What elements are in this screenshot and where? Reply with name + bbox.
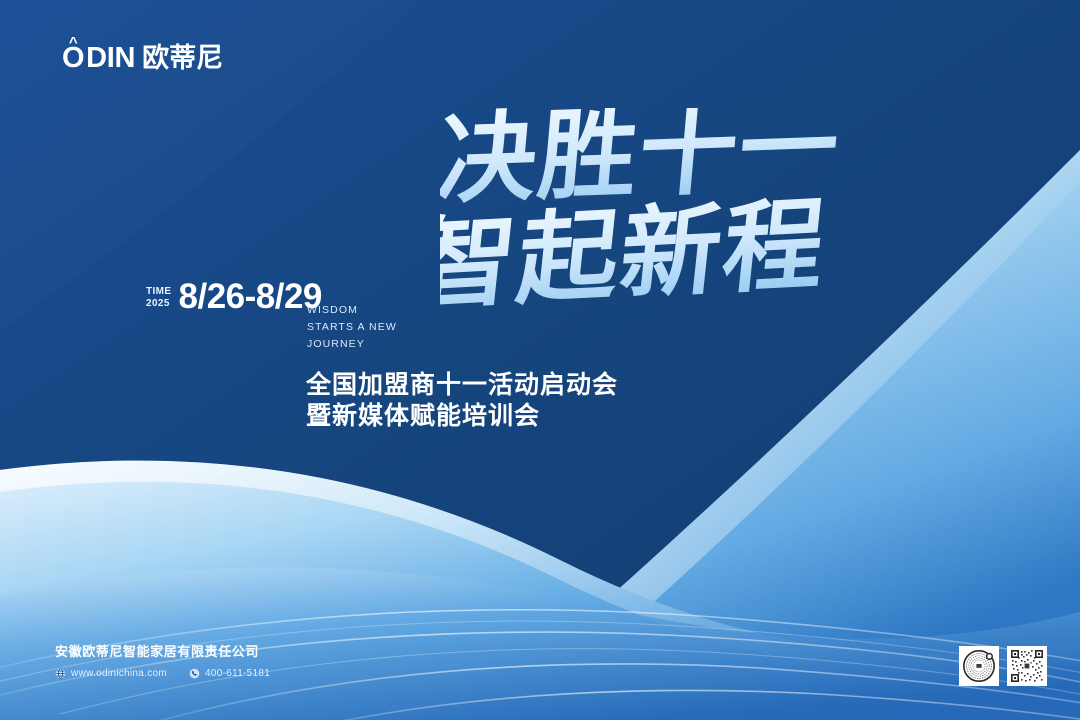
hero-line-2: 智起新程 [440,186,832,323]
phone-icon [189,668,200,679]
contact-row: www.odinichina.com 400-611-5181 [55,668,270,679]
circumflex-accent-icon: ^ [69,35,77,50]
square-qr-icon [1009,648,1045,684]
tagline-line-1: WISDOM [307,302,397,319]
globe-icon [55,668,66,679]
subtitle-line-2: 暨新媒体赋能培训会 [306,400,618,431]
subtitle-line-1: 全国加盟商十一活动启动会 [306,369,618,400]
circular-qr-icon [961,648,997,684]
footer-block: 安徽欧蒂尼智能家居有限责任公司 www.odinichina.com 400-6… [55,646,270,679]
time-label-word: TIME [146,286,172,298]
brand-logo: ^ O DIN 欧蒂尼 [62,44,223,73]
event-date-block: TIME 2025 8/26-8/29 [146,279,322,314]
website-contact[interactable]: www.odinichina.com [55,668,167,679]
qr-code-group [959,646,1047,686]
logo-latin-text: DIN [86,44,135,73]
time-label-year: 2025 [146,298,172,310]
english-tagline: WISDOM STARTS A NEW JOURNEY [307,302,397,353]
logo-chinese-text: 欧蒂尼 [142,45,223,72]
tagline-line-2: STARTS A NEW [307,319,397,336]
hero-title: 决胜十一 智起新程 [440,108,910,348]
wechat-mini-program-qr[interactable] [1007,646,1047,686]
phone-text: 400-611-5181 [205,669,270,679]
event-date-range: 8/26-8/29 [179,279,322,314]
event-subtitle: 全国加盟商十一活动启动会 暨新媒体赋能培训会 [306,369,618,431]
company-name: 安徽欧蒂尼智能家居有限责任公司 [55,646,270,659]
wechat-official-account-qr[interactable] [959,646,999,686]
website-text: www.odinichina.com [71,669,167,679]
logo-o-mark: ^ O [62,44,84,73]
hero-calligraphy-artwork: 决胜十一 智起新程 [440,108,910,348]
event-poster: ^ O DIN 欧蒂尼 决胜十一 智起新程 TIME 2025 8/26-8/2… [0,0,1080,720]
tagline-line-3: JOURNEY [307,336,397,353]
time-label: TIME 2025 [146,284,172,310]
phone-contact[interactable]: 400-611-5181 [189,668,270,679]
